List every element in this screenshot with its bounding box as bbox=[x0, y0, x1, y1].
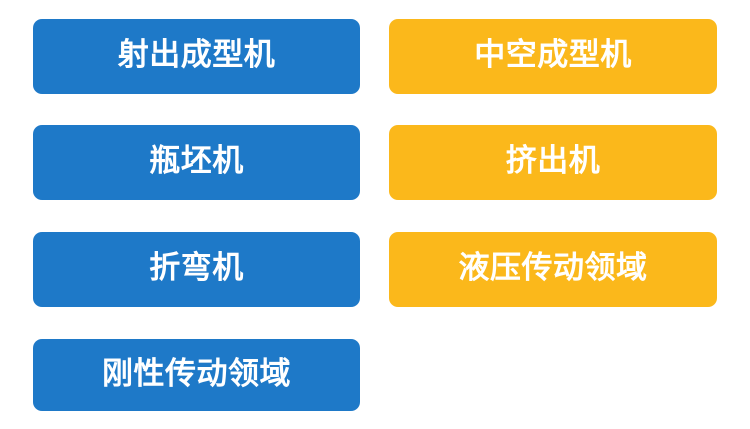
category-button-rigid-transmission-field[interactable]: 刚性传动领域 bbox=[33, 339, 360, 411]
category-button-label: 瓶坯机 bbox=[149, 146, 244, 177]
category-button-label: 挤出机 bbox=[506, 146, 601, 177]
category-button-injection-molding-machine[interactable]: 射出成型机 bbox=[33, 19, 360, 94]
category-button-board: 射出成型机 瓶坯机 折弯机 刚性传动领域 中空成型机 挤出机 液压传动领域 bbox=[0, 0, 750, 429]
category-button-preform-machine[interactable]: 瓶坯机 bbox=[33, 125, 360, 200]
category-button-label: 液压传动领域 bbox=[459, 253, 648, 284]
category-button-blow-molding-machine[interactable]: 中空成型机 bbox=[389, 19, 717, 94]
category-button-extruder[interactable]: 挤出机 bbox=[389, 125, 717, 200]
category-button-label: 折弯机 bbox=[149, 253, 244, 284]
category-button-bending-machine[interactable]: 折弯机 bbox=[33, 232, 360, 307]
category-button-hydraulic-transmission-field[interactable]: 液压传动领域 bbox=[389, 232, 717, 307]
category-button-label: 中空成型机 bbox=[474, 40, 632, 71]
category-button-label: 刚性传动领域 bbox=[102, 359, 291, 390]
category-button-label: 射出成型机 bbox=[118, 40, 276, 71]
